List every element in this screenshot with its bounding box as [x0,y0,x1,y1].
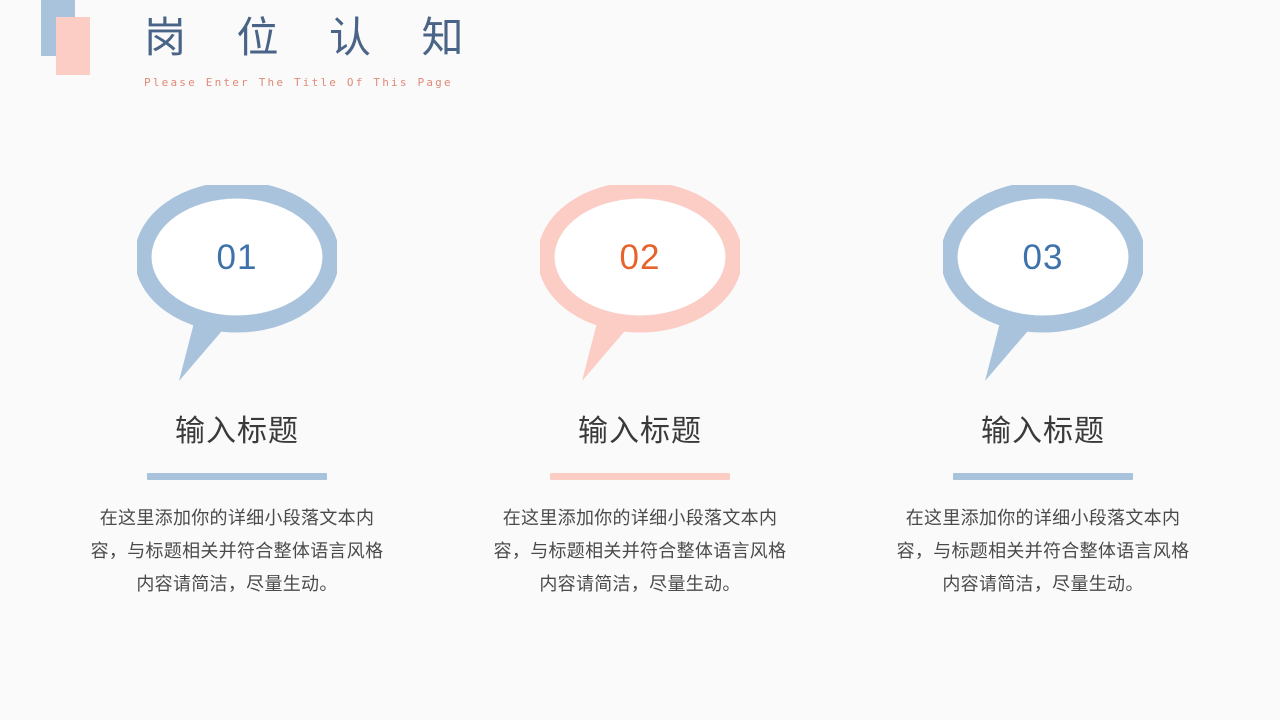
column-title-2: 输入标题 [578,413,702,451]
bubble-number-3: 03 [943,185,1143,330]
page-subtitle: Please Enter The Title Of This Page [144,76,558,89]
bubble-number-1: 01 [137,185,337,330]
column-body-3: 在这里添加你的详细小段落文本内容，与标题相关并符合整体语言风格内容请简洁，尽量生… [893,502,1193,601]
speech-bubble-1: 01 [137,185,337,385]
decorative-pink-square [56,17,90,75]
column-divider-2 [550,473,730,480]
column-title-3: 输入标题 [981,413,1105,451]
slide-canvas: 岗 位 认 知 Please Enter The Title Of This P… [0,0,1280,720]
speech-bubble-3: 03 [943,185,1143,385]
column-divider-1 [147,473,327,480]
content-columns: 01 输入标题 在这里添加你的详细小段落文本内容，与标题相关并符合整体语言风格内… [0,185,1280,601]
column-divider-3 [953,473,1133,480]
column-body-2: 在这里添加你的详细小段落文本内容，与标题相关并符合整体语言风格内容请简洁，尽量生… [490,502,790,601]
speech-bubble-2: 02 [540,185,740,385]
column-title-1: 输入标题 [175,413,299,451]
content-column-1: 01 输入标题 在这里添加你的详细小段落文本内容，与标题相关并符合整体语言风格内… [36,185,439,601]
bubble-number-2: 02 [540,185,740,330]
content-column-2: 02 输入标题 在这里添加你的详细小段落文本内容，与标题相关并符合整体语言风格内… [439,185,842,601]
content-column-3: 03 输入标题 在这里添加你的详细小段落文本内容，与标题相关并符合整体语言风格内… [842,185,1245,601]
column-body-1: 在这里添加你的详细小段落文本内容，与标题相关并符合整体语言风格内容请简洁，尽量生… [87,502,387,601]
slide-header: 岗 位 认 知 Please Enter The Title Of This P… [138,14,558,89]
page-title: 岗 位 认 知 [138,14,558,64]
